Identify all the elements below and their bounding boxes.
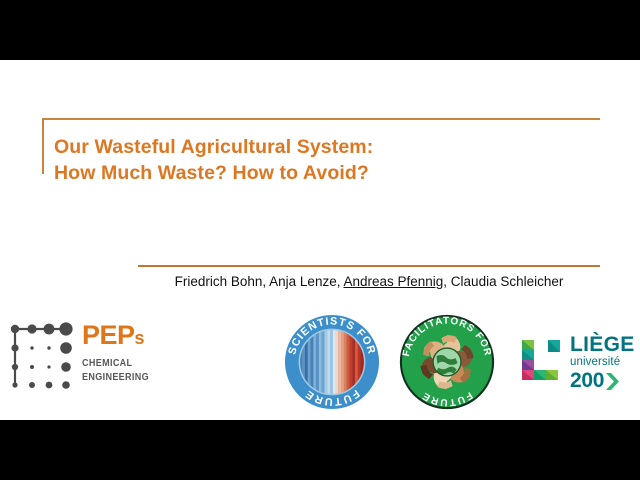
liege-mark-icon — [518, 336, 568, 386]
liege-chevron-icon — [605, 373, 620, 390]
presenting-author: Andreas Pfennig — [343, 274, 443, 289]
liege-anniversary-number: 200 — [570, 369, 604, 392]
letterbox-top — [0, 0, 640, 60]
liege-name: LIÈGE — [570, 334, 636, 356]
scientists-for-future-logo: SCIENTISTS FOR FUTURE — [284, 314, 380, 410]
slide-canvas: Our Wasteful Agricultural System: How Mu… — [0, 60, 640, 420]
liege-logo: LIÈGE université 200 — [518, 334, 634, 392]
authors-suffix: , Claudia Schleicher — [443, 274, 563, 289]
page-title: Our Wasteful Agricultural System: How Mu… — [54, 134, 599, 186]
peps-subtitle-line1: CHEMICAL — [82, 357, 153, 371]
peps-wordmark: PEPs CHEMICAL ENGINEERING — [82, 320, 164, 384]
letterbox-bottom — [0, 420, 640, 480]
logo-strip: PEPs CHEMICAL ENGINEERING — [0, 310, 640, 420]
peps-dot-grid-icon — [8, 322, 76, 392]
liege-subtitle: université — [570, 356, 636, 369]
liege-anniversary: 200 — [570, 370, 636, 392]
peps-name: PEPs — [82, 320, 164, 353]
slide-screen: Our Wasteful Agricultural System: How Mu… — [0, 0, 640, 480]
facilitators-for-future-logo: FACILITATORS FOR FUTURE — [399, 314, 495, 410]
liege-wordmark: LIÈGE université 200 — [570, 334, 636, 392]
globe-icon — [433, 348, 461, 376]
peps-logo: PEPs CHEMICAL ENGINEERING — [8, 320, 163, 398]
peps-subtitle-line2: ENGINEERING — [82, 371, 153, 385]
peps-name-tail: s — [135, 328, 145, 348]
authors-divider — [138, 265, 600, 267]
peps-name-main: PEP — [82, 320, 135, 350]
authors-prefix: Friedrich Bohn, Anja Lenze, — [175, 274, 344, 289]
title-frame: Our Wasteful Agricultural System: How Mu… — [42, 118, 600, 174]
authors-line: Friedrich Bohn, Anja Lenze, Andreas Pfen… — [138, 273, 600, 291]
